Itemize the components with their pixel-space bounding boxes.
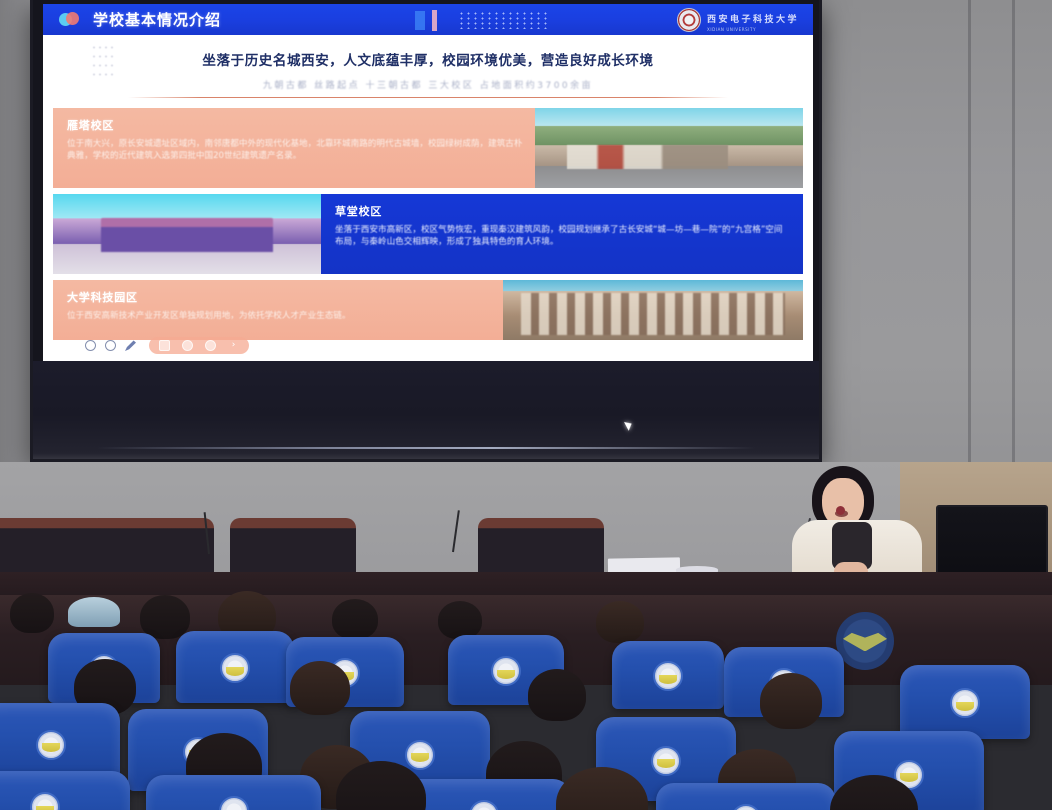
auditorium-seat bbox=[176, 631, 294, 703]
audience-head bbox=[290, 661, 350, 715]
auditorium-seat bbox=[900, 665, 1030, 739]
seat-school-crest bbox=[651, 746, 681, 776]
campus-body-yanta: 位于南大兴，原长安城遗址区域内，南邻唐都中外的现代化基地，北靠环城南路的明代古城… bbox=[67, 138, 523, 163]
seat-school-crest bbox=[731, 804, 761, 810]
campus-panels: 雁塔校区 位于南大兴，原长安城遗址区域内，南邻唐都中外的现代化基地，北靠环城南路… bbox=[43, 108, 813, 340]
audience-head bbox=[596, 601, 644, 643]
audience-seating bbox=[0, 585, 1052, 810]
header-dot-pattern bbox=[458, 11, 548, 29]
seat-school-crest bbox=[405, 740, 435, 770]
slide-header-title: 学校基本情况介绍 bbox=[93, 9, 221, 30]
campus-panel-science-park: 大学科技园区 位于西安高新技术产业开发区单独规划用地，为依托学校人才产业生态链。 bbox=[53, 280, 803, 340]
presenter-speaking bbox=[786, 466, 926, 588]
auditorium-seat bbox=[656, 783, 836, 810]
stage-chair bbox=[230, 518, 356, 580]
audience-head bbox=[760, 673, 822, 729]
science-park-buildings-photo bbox=[503, 280, 803, 340]
grid-icon[interactable] bbox=[182, 340, 193, 351]
chevron-right-circle-icon[interactable] bbox=[105, 340, 116, 351]
campus-body-caotang: 坐落于西安市高新区，校区气势恢宏，重现秦汉建筑风韵，校园规划继承了古长安城“城—… bbox=[335, 224, 791, 249]
stage-chair bbox=[478, 518, 604, 580]
title-divider bbox=[128, 97, 728, 98]
auditorium-seat bbox=[0, 771, 130, 810]
wall-seam-right bbox=[968, 0, 971, 470]
audience-head bbox=[438, 601, 482, 639]
campus-panel-yanta: 雁塔校区 位于南大兴，原长安城遗址区域内，南邻唐都中外的现代化基地，北靠环城南路… bbox=[53, 108, 803, 188]
seat-school-crest bbox=[30, 792, 60, 810]
auditorium-seat bbox=[146, 775, 321, 810]
laser-pointer-icon[interactable] bbox=[159, 340, 170, 351]
magnifier-icon[interactable] bbox=[205, 340, 216, 351]
presenter-toolbar[interactable]: › bbox=[85, 337, 249, 354]
seat-school-crest bbox=[220, 653, 250, 683]
presenter-microphone-head bbox=[836, 506, 845, 515]
campus-title-science-park: 大学科技园区 bbox=[67, 289, 491, 305]
header-decoration-bars bbox=[415, 10, 437, 31]
university-seal-icon bbox=[677, 8, 701, 32]
audience-head bbox=[10, 593, 54, 633]
university-branding: 西安电子科技大学 XIDIAN UNIVERSITY bbox=[677, 7, 799, 32]
wall-seam-far-right bbox=[1012, 0, 1015, 470]
chevron-right-icon[interactable]: › bbox=[228, 340, 239, 351]
seat-school-crest bbox=[653, 661, 683, 691]
slide-header-bar: 学校基本情况介绍 西安电子科技大学 XIDIAN UNIVERSITY bbox=[43, 4, 813, 35]
seat-school-crest bbox=[491, 656, 521, 686]
seat-school-crest bbox=[219, 796, 249, 810]
campus-title-yanta: 雁塔校区 bbox=[67, 117, 523, 133]
auditorium-seat bbox=[612, 641, 724, 709]
chevron-left-circle-icon[interactable] bbox=[85, 340, 96, 351]
seat-school-crest bbox=[950, 688, 980, 718]
overlapping-circles-logo bbox=[59, 9, 81, 31]
slide-subtitle: 九朝古都 丝路起点 十三朝古都 三大校区 占地面积约3700余亩 bbox=[43, 78, 813, 91]
tang-han-style-hall-photo bbox=[53, 194, 321, 274]
lecture-hall-scene: 学校基本情况介绍 西安电子科技大学 XIDIAN UNIVERSITY 坐落于历… bbox=[0, 0, 1052, 810]
wall-display[interactable]: 学校基本情况介绍 西安电子科技大学 XIDIAN UNIVERSITY 坐落于历… bbox=[30, 0, 822, 462]
aerial-campus-photo bbox=[535, 108, 803, 188]
audience-head bbox=[528, 669, 586, 721]
seat-school-crest bbox=[469, 800, 499, 810]
audience-head bbox=[140, 595, 190, 639]
slide-title: 坐落于历史名城西安，人文底蕴丰厚，校园环境优美，营造良好成长环境 bbox=[43, 49, 813, 69]
university-name: 西安电子科技大学 bbox=[707, 15, 799, 25]
powerpoint-slide[interactable]: 学校基本情况介绍 西安电子科技大学 XIDIAN UNIVERSITY 坐落于历… bbox=[43, 4, 813, 362]
audience-head bbox=[332, 599, 378, 639]
audience-cap bbox=[68, 597, 120, 627]
campus-title-caotang: 草堂校区 bbox=[335, 203, 791, 219]
university-name-sub: XIDIAN UNIVERSITY bbox=[707, 27, 799, 32]
campus-panel-caotang: 草堂校区 坐落于西安市高新区，校区气势恢宏，重现秦汉建筑风韵，校园规划继承了古长… bbox=[53, 194, 803, 274]
seat-school-crest bbox=[36, 730, 66, 760]
display-lower-bezel bbox=[33, 361, 819, 459]
slide-title-block: 坐落于历史名城西安，人文底蕴丰厚，校园环境优美，营造良好成长环境 九朝古都 丝路… bbox=[43, 35, 813, 100]
pen-icon[interactable] bbox=[125, 340, 136, 351]
stage-chair bbox=[88, 518, 214, 580]
campus-body-science-park: 位于西安高新技术产业开发区单独规划用地，为依托学校人才产业生态链。 bbox=[67, 310, 491, 322]
